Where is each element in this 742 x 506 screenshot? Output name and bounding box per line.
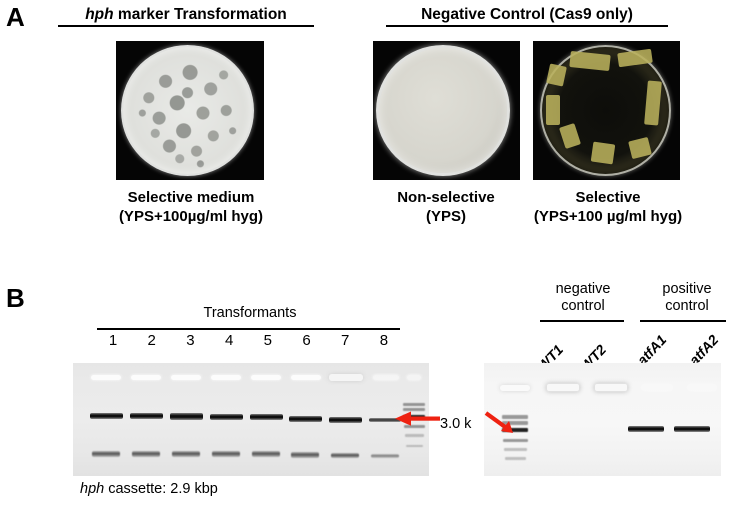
gel-primer-band-lane-6 (291, 452, 319, 458)
gel-primer-band-lane-7 (331, 453, 359, 458)
size-arrow-right-icon (484, 405, 526, 439)
gel-well-wt2 (594, 383, 628, 392)
gel-well (407, 375, 421, 380)
gel-caption-rest: cassette: 2.9 kbp (104, 481, 218, 497)
agar-fragment (546, 95, 560, 125)
lane-number-1: 1 (106, 332, 120, 349)
gel-well (251, 375, 281, 380)
gel-well (373, 375, 399, 380)
gel-well (91, 375, 121, 380)
ladder-band (406, 445, 423, 447)
ladder-band (405, 434, 424, 437)
group-label-transformants: Transformants (140, 305, 360, 322)
gel-primer-band-lane-2 (132, 451, 160, 457)
gel-well-datfa1 (642, 385, 672, 390)
size-arrow-left-icon (395, 410, 441, 428)
lane-number-3: 3 (183, 332, 197, 349)
lane-number-6: 6 (300, 332, 314, 349)
group-rule-positive-control (640, 320, 726, 322)
agar-fragment (559, 123, 581, 149)
plate-caption-control-nonselective: Non-selective (YPS) (366, 188, 526, 226)
agar-fragment (617, 49, 653, 68)
lane-number-8: 8 (377, 332, 391, 349)
size-marker-label: 3.0 k (440, 416, 471, 432)
gel-well (329, 374, 363, 381)
group-rule-transformants (97, 328, 400, 330)
gel-band-lane-6 (289, 416, 322, 422)
gel-well-wt1 (546, 383, 580, 392)
plate-image-control-nonselective (373, 41, 520, 180)
gel-well (171, 375, 201, 380)
panel-a-title-transformation: hph marker Transformation (58, 6, 314, 27)
gel-band-lane-5 (250, 414, 283, 420)
plate-caption-transformation-selective: Selective medium (YPS+100µg/ml hyg) (80, 188, 302, 226)
gel-band-lane-7 (329, 417, 362, 423)
gel-band-lane-1 (90, 413, 123, 419)
gel-band-datfa1 (628, 426, 664, 432)
agar-fragment (569, 51, 610, 71)
gel-band-lane-4 (210, 414, 243, 420)
panel-a-title-transformation-rest: marker Transformation (114, 6, 287, 23)
petri-dish-graphic (376, 45, 510, 176)
agar-fragment (644, 80, 662, 125)
agar-fragment (546, 63, 567, 86)
gel-band-datfa2 (674, 426, 710, 432)
group-label-positive-control: positive control (650, 281, 724, 315)
gel-well (291, 375, 321, 380)
gel-band-lane-3 (170, 413, 203, 420)
group-rule-negative-control (540, 320, 624, 322)
gel-well (211, 375, 241, 380)
ladder-band (505, 457, 526, 460)
plate-image-transformation-selective (116, 41, 264, 180)
gel-primer-band-lane-3 (172, 451, 200, 457)
petri-dish-graphic (121, 45, 254, 176)
gel-caption-gene-name: hph (80, 481, 104, 497)
gel-primer-band-lane-5 (252, 451, 280, 457)
gel-caption-hph-cassette: hph cassette: 2.9 kbp (80, 481, 218, 497)
gel-well-datfa2 (688, 385, 716, 390)
ladder-band (403, 403, 425, 406)
panel-label-a: A (6, 4, 24, 30)
ladder-band (503, 439, 528, 442)
plate-caption-control-selective: Selective (YPS+100 µg/ml hyg) (518, 188, 698, 226)
petri-dish-graphic (540, 45, 671, 176)
lane-number-5: 5 (261, 332, 275, 349)
panel-a-title-negative-control: Negative Control (Cas9 only) (386, 6, 668, 27)
gel-band-lane-2 (130, 413, 163, 419)
lane-number-2: 2 (145, 332, 159, 349)
lane-number-7: 7 (338, 332, 352, 349)
figure-root: A hph marker Transformation Negative Con… (0, 0, 742, 506)
gel-primer-band-lane-4 (212, 451, 240, 457)
agar-fragment (591, 142, 616, 165)
panel-a-title-gene-name: hph (85, 6, 113, 23)
lane-number-row: 1 2 3 4 5 6 7 8 (97, 332, 400, 349)
gel-primer-band-lane-8 (371, 454, 399, 458)
gel-well (500, 385, 530, 391)
panel-label-b: B (6, 285, 24, 311)
group-label-negative-control: negative control (546, 281, 620, 315)
ladder-band (504, 448, 527, 451)
agar-fragment (628, 137, 652, 159)
gel-primer-band-lane-1 (92, 451, 120, 457)
lane-number-4: 4 (222, 332, 236, 349)
gel-image-transformants (73, 363, 429, 476)
plate-image-control-selective (533, 41, 680, 180)
gel-well (131, 375, 161, 380)
